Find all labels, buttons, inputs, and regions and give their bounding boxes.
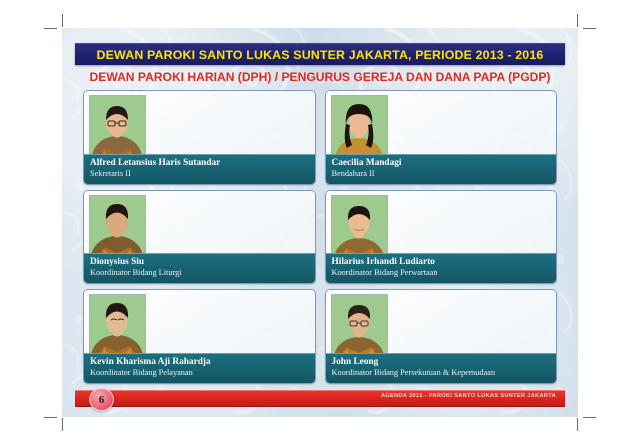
crop-mark-bottom-left-horizontal (44, 417, 57, 418)
member-name: Dionysius Siu (90, 257, 315, 268)
member-card[interactable]: John Leong Koordinator Bidang Persekutua… (325, 289, 558, 384)
member-role: Koordinator Bidang Liturgi (90, 268, 315, 278)
crop-mark-bottom-right-horizontal (583, 417, 596, 418)
member-role: Koordinator Bidang Persekutuan & Kepemud… (332, 368, 557, 378)
member-name-bar: Caecilia Mandagi Bendahara II (326, 154, 557, 184)
member-role: Koordinator Bidang Perwartaan (332, 268, 557, 278)
member-card[interactable]: Dionysius Siu Koordinator Bidang Liturgi (83, 190, 316, 285)
page-title-bar: DEWAN PAROKI SANTO LUKAS SUNTER JAKARTA,… (75, 43, 565, 65)
member-name: Hilarius Irhandi Ludiarto (332, 257, 557, 268)
member-role: Sekretaris II (90, 169, 315, 179)
footer-agenda-text: AGENDA 2015 - PAROKI SANTO LUKAS SUNTER … (381, 393, 556, 399)
page-footer-bar: 6 AGENDA 2015 - PAROKI SANTO LUKAS SUNTE… (75, 390, 565, 407)
member-name: John Leong (332, 357, 557, 368)
page-subtitle: DEWAN PAROKI HARIAN (DPH) / PENGURUS GER… (90, 70, 551, 84)
member-role: Bendahara II (332, 169, 557, 179)
page-subtitle-row: DEWAN PAROKI HARIAN (DPH) / PENGURUS GER… (75, 67, 565, 86)
member-name: Kevin Kharisma Aji Rahardja (90, 357, 315, 368)
member-card[interactable]: Kevin Kharisma Aji Rahardja Koordinator … (83, 289, 316, 384)
printed-page: DEWAN PAROKI SANTO LUKAS SUNTER JAKARTA,… (62, 28, 578, 417)
crop-mark-top-right-horizontal (583, 28, 596, 29)
member-name: Caecilia Mandagi (332, 158, 557, 169)
member-card[interactable]: Alfred Letansius Haris Sutandar Sekretar… (83, 90, 316, 185)
member-name-bar: Hilarius Irhandi Ludiarto Koordinator Bi… (326, 253, 557, 283)
member-card-grid: Alfred Letansius Haris Sutandar Sekretar… (83, 90, 557, 384)
crop-mark-top-left-vertical (62, 14, 63, 27)
crop-mark-bottom-right-vertical (577, 418, 578, 431)
member-name-bar: Kevin Kharisma Aji Rahardja Koordinator … (84, 353, 315, 383)
member-role: Koordinator Bidang Pelayanan (90, 368, 315, 378)
page-title: DEWAN PAROKI SANTO LUKAS SUNTER JAKARTA,… (97, 48, 544, 62)
crop-mark-bottom-left-vertical (62, 418, 63, 431)
page-number: 6 (99, 394, 105, 406)
member-name: Alfred Letansius Haris Sutandar (90, 158, 315, 169)
member-name-bar: Dionysius Siu Koordinator Bidang Liturgi (84, 253, 315, 283)
member-card[interactable]: Hilarius Irhandi Ludiarto Koordinator Bi… (325, 190, 558, 285)
crop-mark-top-left-horizontal (44, 28, 57, 29)
crop-mark-top-right-vertical (577, 14, 578, 27)
page-canvas: DEWAN PAROKI SANTO LUKAS SUNTER JAKARTA,… (0, 0, 640, 446)
member-name-bar: Alfred Letansius Haris Sutandar Sekretar… (84, 154, 315, 184)
member-name-bar: John Leong Koordinator Bidang Persekutua… (326, 353, 557, 383)
page-number-badge: 6 (89, 388, 114, 411)
member-card[interactable]: Caecilia Mandagi Bendahara II (325, 90, 558, 185)
